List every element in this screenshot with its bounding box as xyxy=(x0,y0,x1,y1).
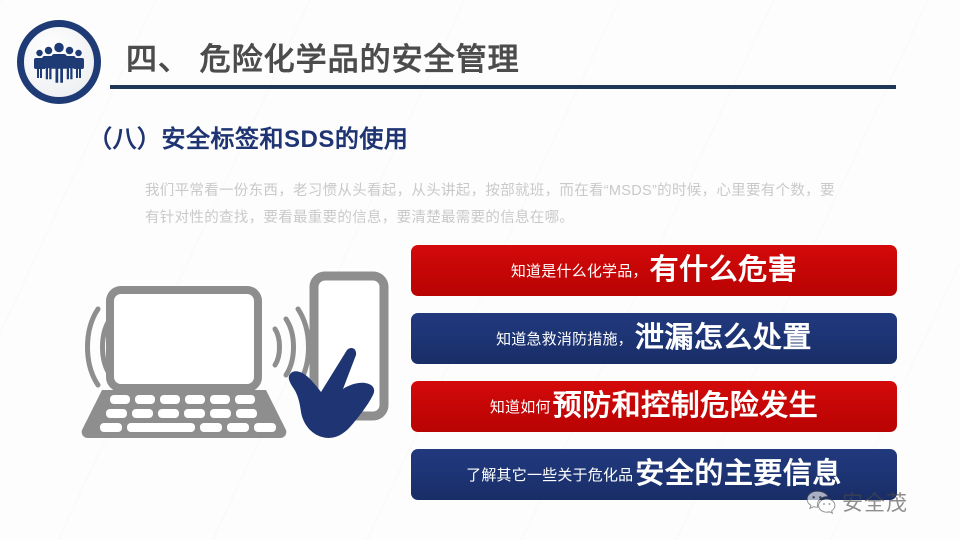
people-group-icon xyxy=(17,20,101,104)
body-paragraph: 我们平常看一份东西，老习惯从头看起，从头讲起，按部就班，而在看“MSDS”的时候… xyxy=(145,178,845,232)
bar-small-text: 知道急救消防措施， xyxy=(496,328,633,349)
bar-big-text: 有什么危害 xyxy=(650,256,798,285)
header-divider xyxy=(110,85,896,89)
bar-small-text: 知道如何 xyxy=(490,396,551,417)
message-bars-list: 知道是什么化学品， 有什么危害 知道急救消防措施， 泄漏怎么处置 知道如何 预防… xyxy=(411,245,897,517)
bar-big-text: 预防和控制危险发生 xyxy=(553,392,819,421)
section-subtitle: （八）安全标签和SDS的使用 xyxy=(88,119,408,154)
bar-big-text: 泄漏怎么处置 xyxy=(635,324,812,353)
bar-small-text: 知道是什么化学品， xyxy=(511,260,648,281)
watermark-text: 安全茂 xyxy=(842,487,908,517)
laptop-icon xyxy=(82,290,287,438)
devices-illustration xyxy=(62,268,402,473)
slide-canvas: 四、 危险化学品的安全管理 （八）安全标签和SDS的使用 我们平常看一份东西，老… xyxy=(0,0,960,540)
watermark: 安全茂 xyxy=(806,487,908,517)
message-bar[interactable]: 知道急救消防措施， 泄漏怎么处置 xyxy=(411,313,897,364)
page-title: 四、 危险化学品的安全管理 xyxy=(126,34,520,79)
wechat-icon xyxy=(806,489,836,515)
message-bar[interactable]: 知道如何 预防和控制危险发生 xyxy=(411,381,897,432)
bar-small-text: 了解其它一些关于危化品 xyxy=(466,464,633,485)
message-bar[interactable]: 知道是什么化学品， 有什么危害 xyxy=(411,245,897,296)
bar-big-text: 安全的主要信息 xyxy=(635,460,842,489)
